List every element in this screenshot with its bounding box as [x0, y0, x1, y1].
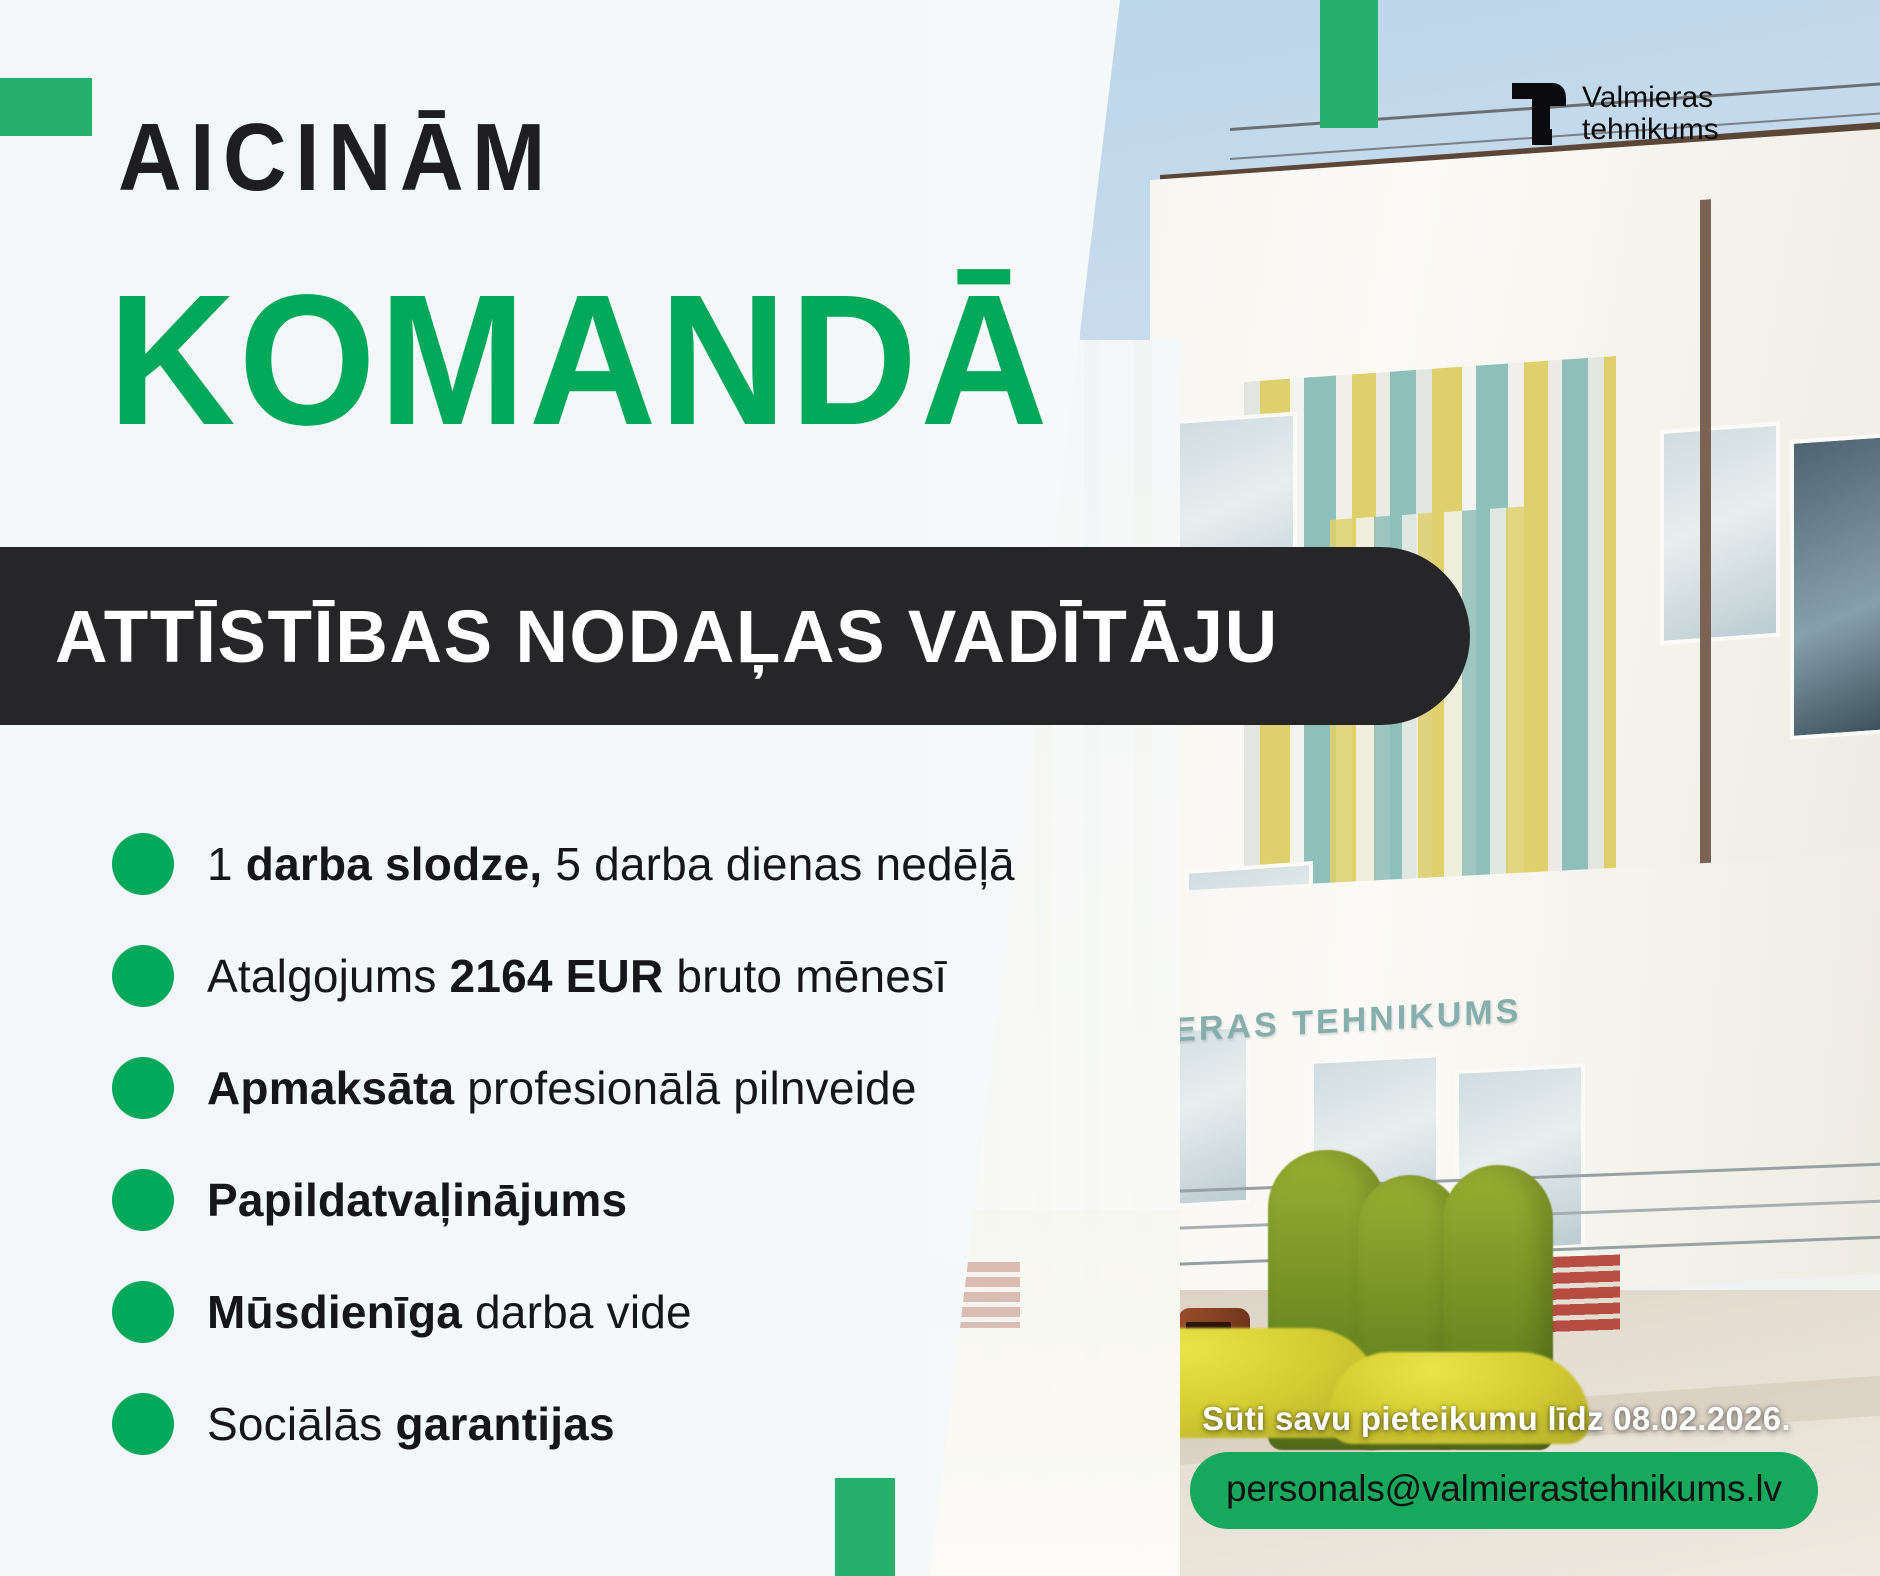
bullet-dot-icon	[112, 1281, 174, 1343]
job-ad-poster: VALMIERAS TEHNIKUMS	[0, 0, 1880, 1576]
window	[1660, 422, 1780, 645]
email-pill[interactable]: personals@valmierastehnikums.lv	[1190, 1452, 1818, 1529]
accent-block-top-right	[1320, 0, 1378, 128]
contact-block: Sūti savu pieteikumu līdz 08.02.2026. pe…	[1190, 1400, 1850, 1529]
position-title: ATTĪSTĪBAS NODAĻAS VADĪTĀJU	[55, 594, 1279, 679]
window	[1790, 433, 1880, 740]
application-deadline: Sūti savu pieteikumu līdz 08.02.2026.	[1202, 1400, 1850, 1438]
benefit-row: Sociālās garantijas	[112, 1368, 1122, 1480]
benefit-row: 1 darba slodze, 5 darba dienas nedēļā	[112, 808, 1122, 920]
benefit-row: Atalgojums 2164 EUR bruto mēnesī	[112, 920, 1122, 1032]
benefits-list: 1 darba slodze, 5 darba dienas nedēļāAta…	[112, 808, 1122, 1480]
bullet-dot-icon	[112, 833, 174, 895]
benefit-text: Atalgojums 2164 EUR bruto mēnesī	[207, 949, 947, 1003]
drainpipe	[1700, 199, 1711, 880]
headline: AICINĀM	[118, 110, 592, 206]
accent-block-bottom	[835, 1478, 895, 1576]
bullet-dot-icon	[112, 1057, 174, 1119]
benefit-text: Apmaksāta profesionālā pilnveide	[207, 1061, 917, 1115]
logo[interactable]: Valmieras tehnikums	[1512, 82, 1719, 146]
headline-line-2: KOMANDĀ	[108, 268, 1051, 454]
benefit-text: 1 darba slodze, 5 darba dienas nedēļā	[207, 837, 1015, 891]
benefit-row: Mūsdienīga darba vide	[112, 1256, 1122, 1368]
bullet-dot-icon	[112, 1169, 174, 1231]
contact-email: personals@valmierastehnikums.lv	[1226, 1468, 1782, 1509]
position-banner: ATTĪSTĪBAS NODAĻAS VADĪTĀJU	[0, 547, 1470, 725]
benefit-row: Papildatvaļinājums	[112, 1144, 1122, 1256]
valmieras-tehnikums-mark-icon	[1512, 83, 1566, 145]
benefit-text: Mūsdienīga darba vide	[207, 1285, 692, 1339]
bullet-dot-icon	[112, 945, 174, 1007]
benefit-text: Sociālās garantijas	[207, 1397, 615, 1451]
bullet-dot-icon	[112, 1393, 174, 1455]
headline-line-1: AICINĀM	[118, 110, 554, 206]
benefit-row: Apmaksāta profesionālā pilnveide	[112, 1032, 1122, 1144]
logo-text: Valmieras tehnikums	[1582, 82, 1719, 146]
benefit-text: Papildatvaļinājums	[207, 1173, 627, 1227]
accent-block-top-left	[0, 78, 92, 136]
